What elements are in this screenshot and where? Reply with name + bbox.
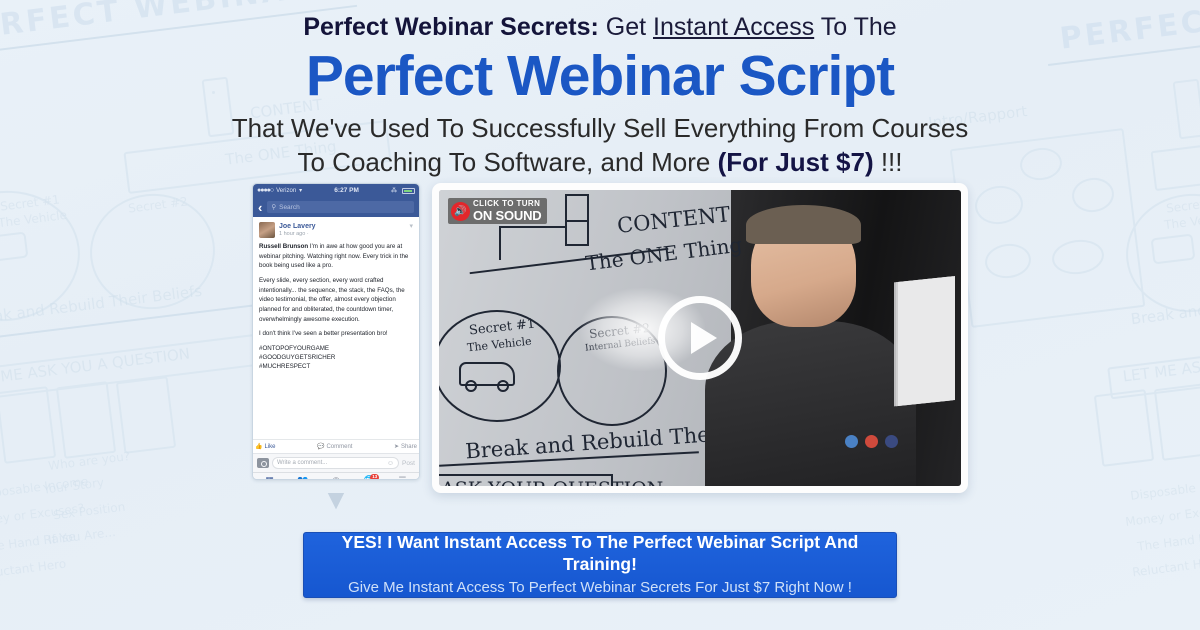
watermark-list2-item-4: If You Are...	[47, 525, 116, 547]
comment-placeholder: Write a comment...	[277, 460, 327, 466]
twitter-icon[interactable]	[885, 435, 898, 448]
like-button[interactable]: 👍 Like	[255, 443, 276, 450]
media-row: ●●●●○ Verizon ▾ 6:27 PM ⁂ ‹ ⚲ Search Joe	[0, 183, 1200, 503]
wifi-icon: ▾	[299, 187, 302, 194]
comment-label: Comment	[326, 444, 352, 450]
watermark-list-item-2: Money or Excuses?	[0, 501, 85, 529]
messenger-icon: ◉	[319, 475, 352, 480]
subheadline: That We've Used To Successfully Sell Eve…	[0, 111, 1200, 180]
post-timestamp: 1 hour ago ·	[279, 231, 316, 238]
watermark-r-list-item-3: The Hand Raise	[1136, 528, 1200, 553]
phone-nav-bar: ‹ ⚲ Search	[253, 197, 419, 217]
hashtag-2[interactable]: #GOODGUYGETSRICHER	[259, 353, 413, 362]
chevron-down-icon[interactable]: ▼	[252, 486, 420, 514]
post-comment-button[interactable]: Post	[402, 460, 415, 467]
play-triangle-icon	[691, 322, 717, 354]
carrier-label: Verizon	[276, 188, 296, 194]
watermark-list-item-4: Reluctant Hero	[0, 557, 67, 582]
comment-input[interactable]: Write a comment... ☺	[272, 457, 399, 469]
presenter-hair	[746, 205, 861, 245]
landing-page: PERFECT WEBINAR CONTENT The ONE Thing Se…	[0, 0, 1200, 630]
tab-more[interactable]: ☰ More	[386, 475, 419, 480]
search-input[interactable]: ⚲ Search	[267, 201, 414, 213]
share-button[interactable]: ➤ Share	[394, 443, 417, 450]
tab-news-feed[interactable]: ▦ News Feed	[253, 475, 286, 480]
notifications-badge: 13	[370, 474, 379, 480]
comment-composer: Write a comment... ☺ Post	[253, 453, 419, 472]
youtube-icon[interactable]	[865, 435, 878, 448]
subheadline-line-1: That We've Used To Successfully Sell Eve…	[0, 111, 1200, 145]
watermark-list2-item-3: Sex Position	[52, 500, 126, 523]
globe-notifications-icon: 🌐 13	[353, 475, 386, 480]
bluetooth-icon: ⁂	[391, 187, 397, 194]
tab-notifications[interactable]: 🌐 13 Notifications	[353, 475, 386, 480]
chevron-down-icon[interactable]: ▾	[409, 222, 413, 230]
hamburger-more-icon: ☰	[386, 475, 419, 480]
cta-secondary-label: Give Me Instant Access To Perfect Webina…	[304, 578, 896, 598]
facebook-icon[interactable]	[845, 435, 858, 448]
comment-button[interactable]: 💬 Comment	[317, 443, 353, 450]
papers-stack	[898, 276, 955, 406]
battery-icon	[402, 188, 415, 194]
watermark-r-list-item-2: Money or Excuses?	[1125, 501, 1200, 529]
video-social-icons	[845, 435, 898, 448]
news-feed-icon: ▦	[253, 475, 286, 480]
price-highlight: (For Just $7)	[718, 147, 874, 177]
chevron-left-icon[interactable]: ‹	[258, 201, 262, 214]
eyebrow-mid: Get	[599, 13, 653, 41]
phone-testimonial-screenshot: ●●●●○ Verizon ▾ 6:27 PM ⁂ ‹ ⚲ Search Joe	[252, 183, 420, 480]
post-author-row: Joe Lavery 1 hour ago · ▾	[259, 222, 413, 238]
tagged-user-name[interactable]: Russell Brunson	[259, 243, 308, 250]
page-title: Perfect Webinar Script	[0, 47, 1200, 107]
tab-messenger[interactable]: ◉ Messenger	[319, 475, 352, 480]
video-player[interactable]: CONTENT The ONE Thing Secret #1 The Vehi…	[439, 190, 961, 486]
instant-access-link[interactable]: Instant Access	[653, 13, 814, 41]
play-button[interactable]	[658, 296, 742, 380]
watermark-list-item-3: The Hand Raise	[0, 529, 76, 554]
cta-button[interactable]: YES! I Want Instant Access To The Perfec…	[303, 532, 897, 598]
post-text-paragraph-2: Every slide, every section, every word c…	[259, 276, 413, 324]
eyebrow-bold: Perfect Webinar Secrets:	[303, 13, 599, 41]
avatar	[259, 222, 275, 238]
search-placeholder: Search	[279, 204, 300, 211]
share-label: Share	[401, 444, 417, 450]
speaker-icon: 🔊	[451, 202, 470, 221]
search-icon: ⚲	[271, 203, 276, 211]
hashtag-3[interactable]: #MUCHRESPECT	[259, 362, 413, 371]
status-time: 6:27 PM	[334, 187, 359, 194]
eyebrow-line: Perfect Webinar Secrets: Get Instant Acc…	[0, 12, 1200, 43]
signal-dots-icon: ●●●●○	[257, 187, 273, 194]
cta-primary-label: YES! I Want Instant Access To The Perfec…	[304, 532, 896, 576]
post-body: Joe Lavery 1 hour ago · ▾ Russell Brunso…	[253, 217, 419, 439]
post-author-name[interactable]: Joe Lavery	[279, 222, 316, 231]
subheadline-line-2-post: !!!	[874, 147, 903, 177]
whiteboard-ask-question-label: ASK YOUR QUESTION	[441, 478, 663, 486]
eyebrow-end: To The	[814, 13, 896, 41]
sound-badge-line-1: CLICK TO TURN	[473, 200, 541, 208]
camera-icon[interactable]	[257, 458, 269, 468]
post-text-paragraph-3: I don't think I've seen a better present…	[259, 329, 413, 339]
sound-badge-line-2: ON SOUND	[473, 209, 541, 222]
click-to-turn-on-sound-badge[interactable]: 🔊 CLICK TO TURN ON SOUND	[448, 198, 547, 224]
subheadline-line-2: To Coaching To Software, and More (For J…	[0, 145, 1200, 179]
friend-requests-icon: 👥	[286, 475, 319, 480]
phone-tab-bar: ▦ News Feed 👥 Requests ◉ Messenger 🌐 13 …	[253, 472, 419, 480]
like-label: Like	[264, 444, 275, 450]
hashtag-1[interactable]: #ONTOPOFYOURGAME	[259, 344, 413, 353]
subheadline-line-2-pre: To Coaching To Software, and More	[297, 147, 717, 177]
post-text-paragraph-1: Russell Brunson I'm in awe at how good y…	[259, 242, 413, 271]
phone-status-bar: ●●●●○ Verizon ▾ 6:27 PM ⁂	[253, 184, 419, 197]
headline-block: Perfect Webinar Secrets: Get Instant Acc…	[0, 12, 1200, 180]
post-actions-row: 👍 Like 💬 Comment ➤ Share	[253, 439, 419, 453]
emoji-icon[interactable]: ☺	[387, 460, 394, 467]
tab-requests[interactable]: 👥 Requests	[286, 475, 319, 480]
video-player-frame: CONTENT The ONE Thing Secret #1 The Vehi…	[432, 183, 968, 493]
watermark-r-list-item-4: Reluctant Hero	[1131, 555, 1200, 580]
